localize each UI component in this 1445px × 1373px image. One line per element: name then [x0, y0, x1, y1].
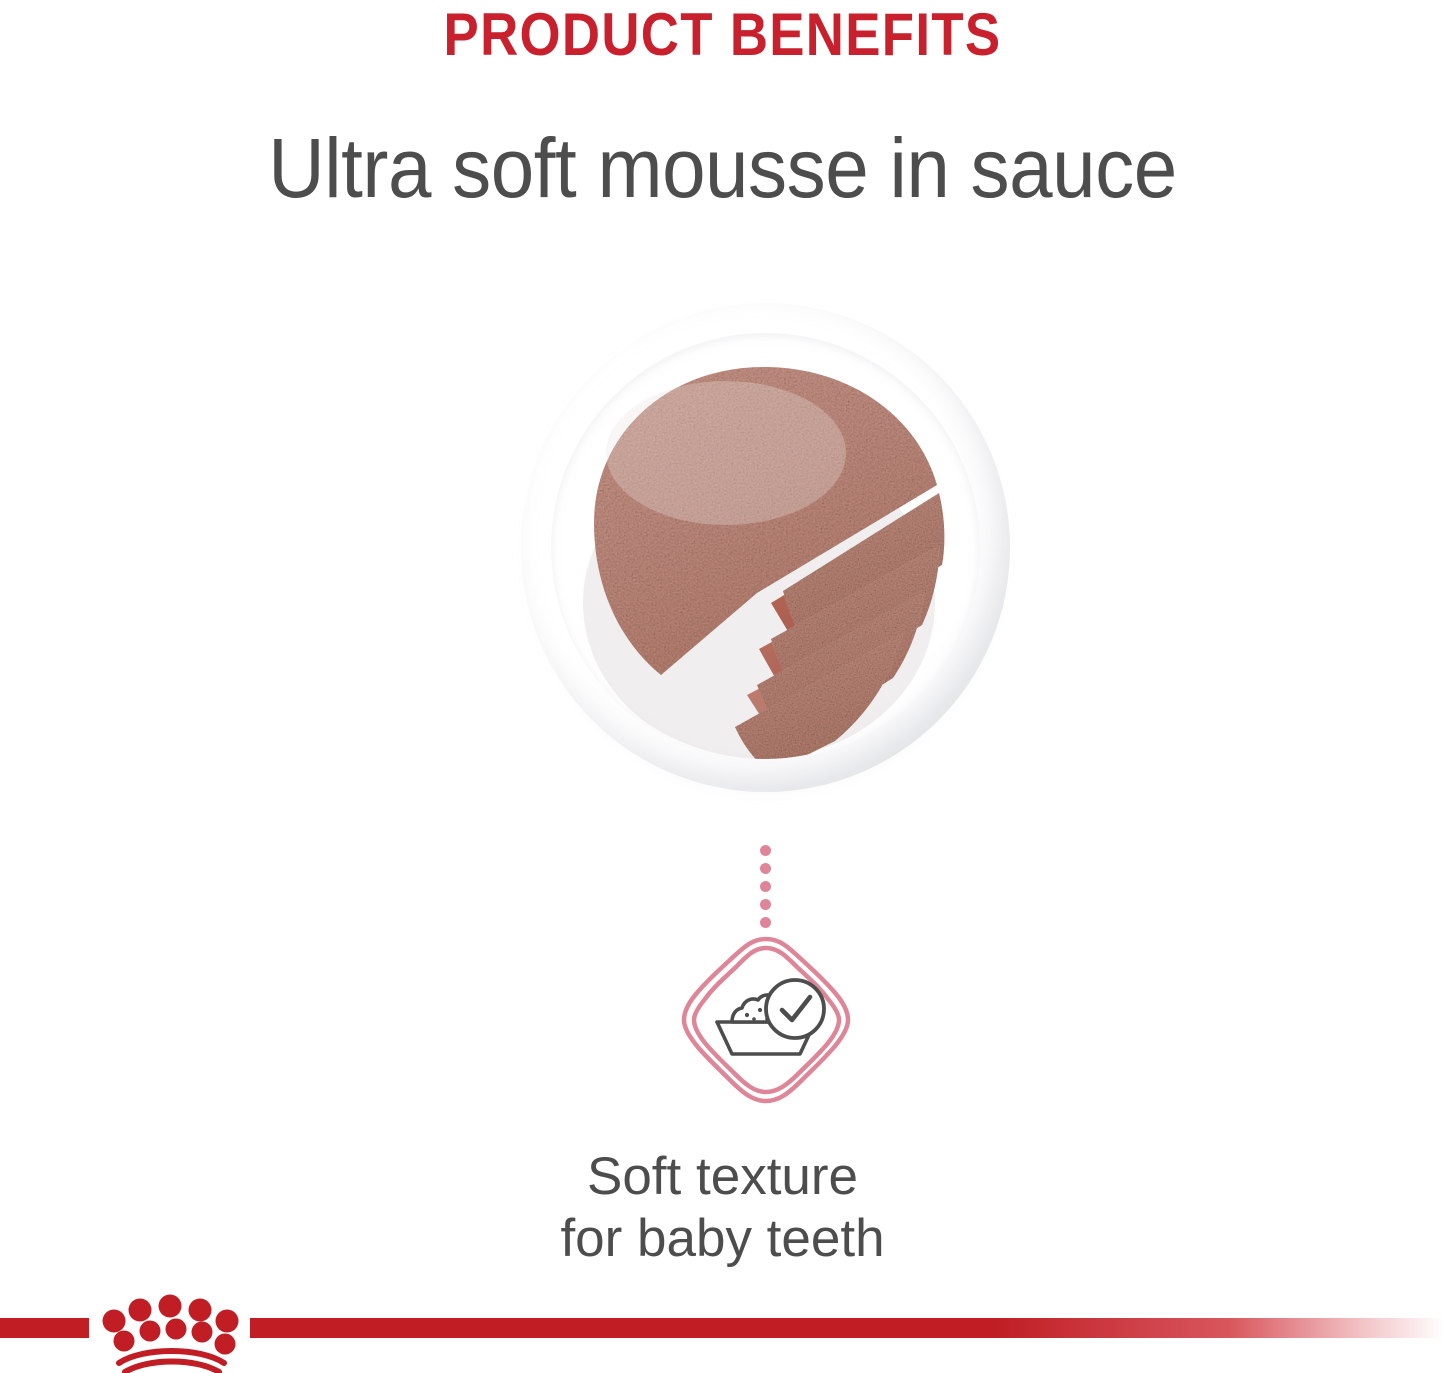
footer: [0, 1280, 1445, 1373]
benefit-caption-line-1: Soft texture: [0, 1146, 1445, 1208]
connector-dot: [760, 845, 771, 856]
connector-dot: [760, 917, 771, 928]
crown-arcs-icon: [119, 1351, 224, 1372]
royal-canin-crown-logo: [88, 1288, 253, 1373]
page-title: PRODUCT BENEFITS: [87, 0, 1359, 70]
footer-rule-right: [250, 1318, 1445, 1338]
benefit-caption-line-2: for baby teeth: [0, 1208, 1445, 1270]
product-photo: [521, 303, 1011, 793]
connector-dot: [760, 899, 771, 910]
bowl-check-icon: [676, 930, 856, 1110]
crown-dots-icon: [103, 1295, 239, 1355]
benefit-caption: Soft texture for baby teeth: [0, 1146, 1445, 1270]
mousse-loaf: [521, 303, 1010, 792]
dotted-connector: [757, 845, 775, 930]
page-subtitle: Ultra soft mousse in sauce: [51, 118, 1395, 218]
footer-rule-left: [0, 1318, 89, 1338]
connector-dot: [760, 881, 771, 892]
connector-dot: [760, 863, 771, 874]
check-circle-icon: [766, 980, 824, 1038]
